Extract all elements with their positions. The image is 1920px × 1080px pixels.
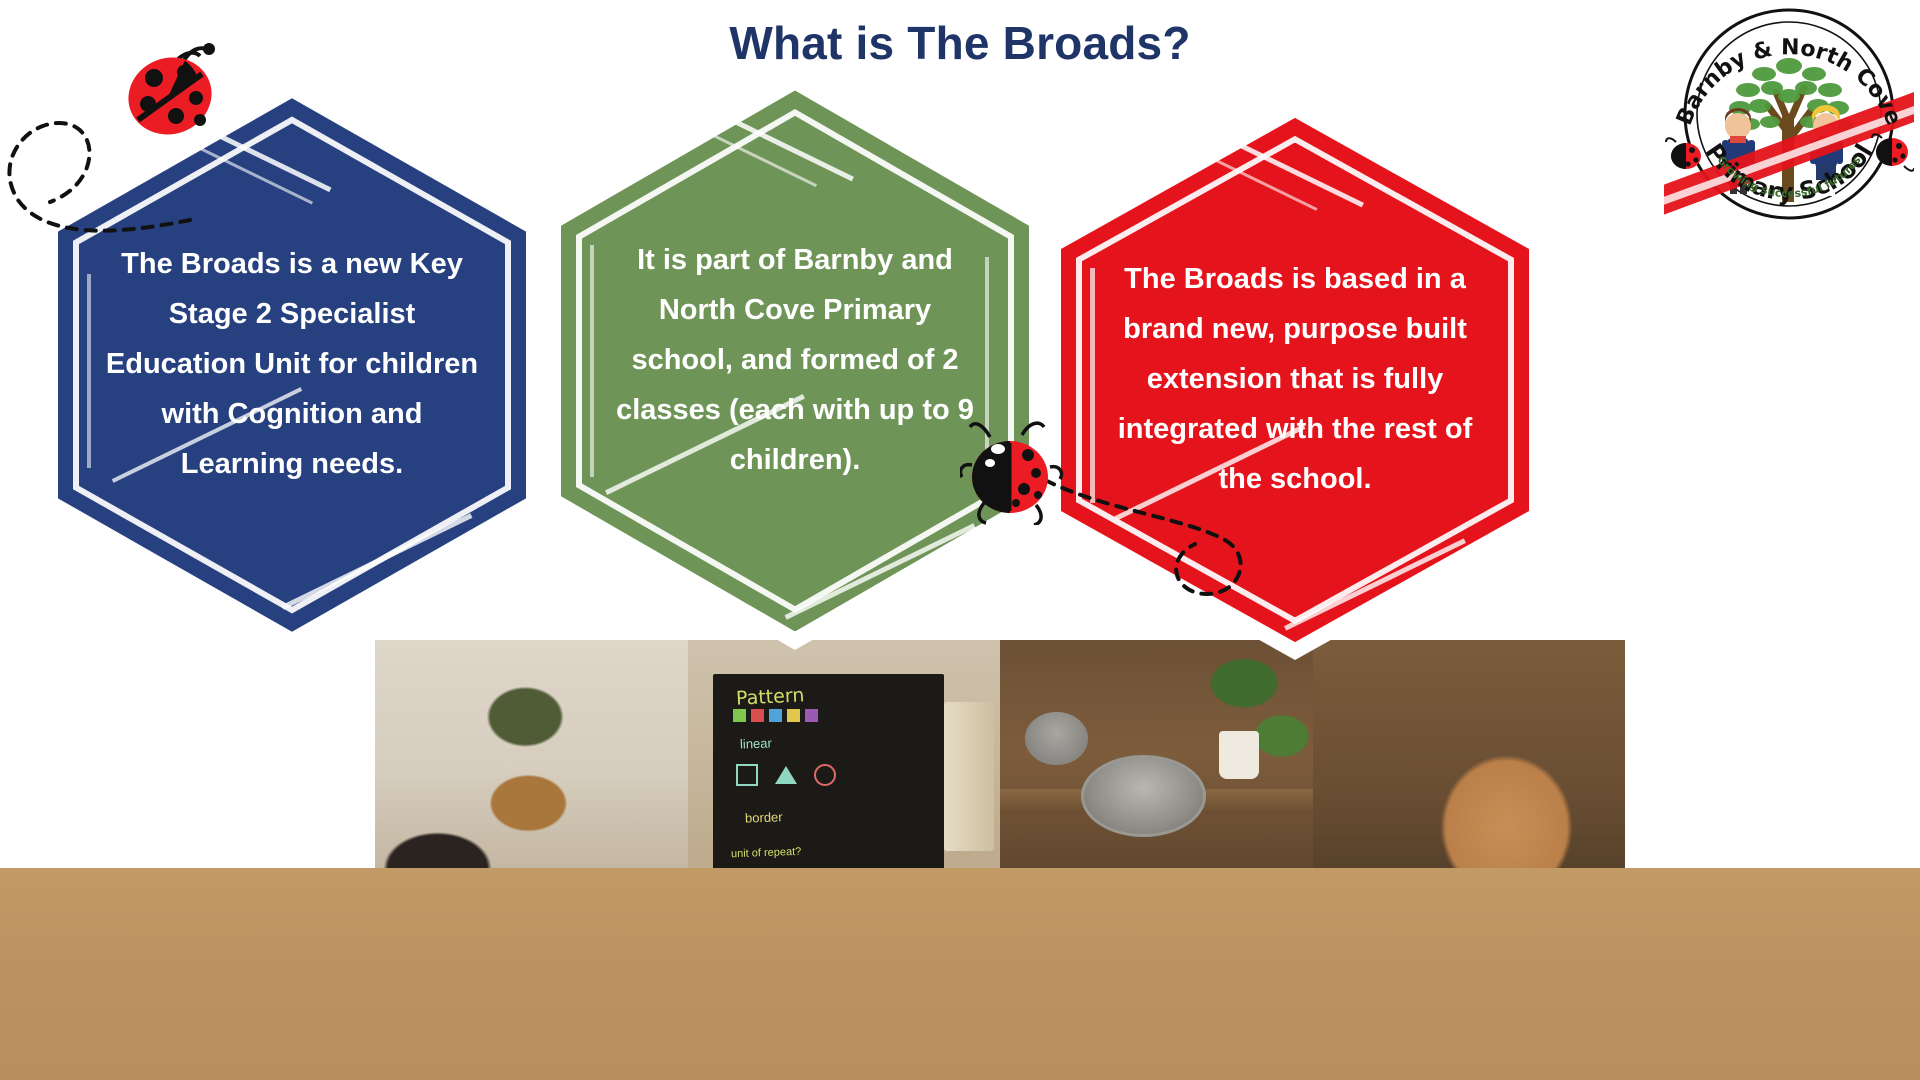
small-pot bbox=[1025, 712, 1088, 765]
colour-square bbox=[733, 709, 746, 722]
child-outdoor-photo bbox=[1313, 640, 1626, 880]
pattern-chalkboard-photo: Pattern linear border unit of repeat? bbox=[688, 640, 1001, 880]
photo-strip: Pattern linear border unit of repeat? bbox=[375, 640, 1625, 880]
green-hexagon[interactable]: It is part of Barnby and North Cove Prim… bbox=[545, 72, 1045, 650]
slide-canvas: What is The Broads? Pattern linear bbox=[0, 0, 1920, 1080]
shape-row bbox=[736, 764, 836, 786]
chalk-line-unit: unit of repeat? bbox=[731, 846, 802, 860]
classroom-plant-photo bbox=[375, 640, 688, 880]
colour-square-row bbox=[733, 709, 818, 722]
colour-square bbox=[787, 709, 800, 722]
colour-square bbox=[751, 709, 764, 722]
page-title: What is The Broads? bbox=[0, 16, 1920, 70]
chalk-line-border: border bbox=[745, 809, 783, 825]
colour-square bbox=[805, 709, 818, 722]
ladybird-middle-icon bbox=[960, 415, 1070, 525]
school-logo: Barnby & North Cove Primary School Growi… bbox=[1664, 0, 1914, 226]
flight-path-right-icon bbox=[1035, 470, 1295, 630]
blue-hexagon-text: The Broads is a new Key Stage 2 Speciali… bbox=[102, 205, 482, 524]
chalk-line-linear: linear bbox=[740, 735, 772, 751]
mud-kitchen-photo bbox=[1000, 640, 1313, 880]
bottom-colour-band bbox=[0, 868, 1920, 1080]
circle-shape bbox=[814, 764, 836, 786]
chalk-title: Pattern bbox=[735, 684, 804, 710]
ladybird-logo-left-icon bbox=[1666, 138, 1701, 169]
colour-square bbox=[769, 709, 782, 722]
metal-pan bbox=[1081, 755, 1206, 837]
triangle-shape bbox=[774, 765, 798, 785]
paper-roll bbox=[944, 702, 994, 851]
white-cup bbox=[1219, 731, 1260, 779]
green-hexagon-text: It is part of Barnby and North Cove Prim… bbox=[605, 199, 985, 523]
square-shape bbox=[736, 764, 758, 786]
ladybird-topleft-icon bbox=[110, 38, 220, 148]
chalkboard: Pattern linear border unit of repeat? bbox=[713, 674, 944, 880]
